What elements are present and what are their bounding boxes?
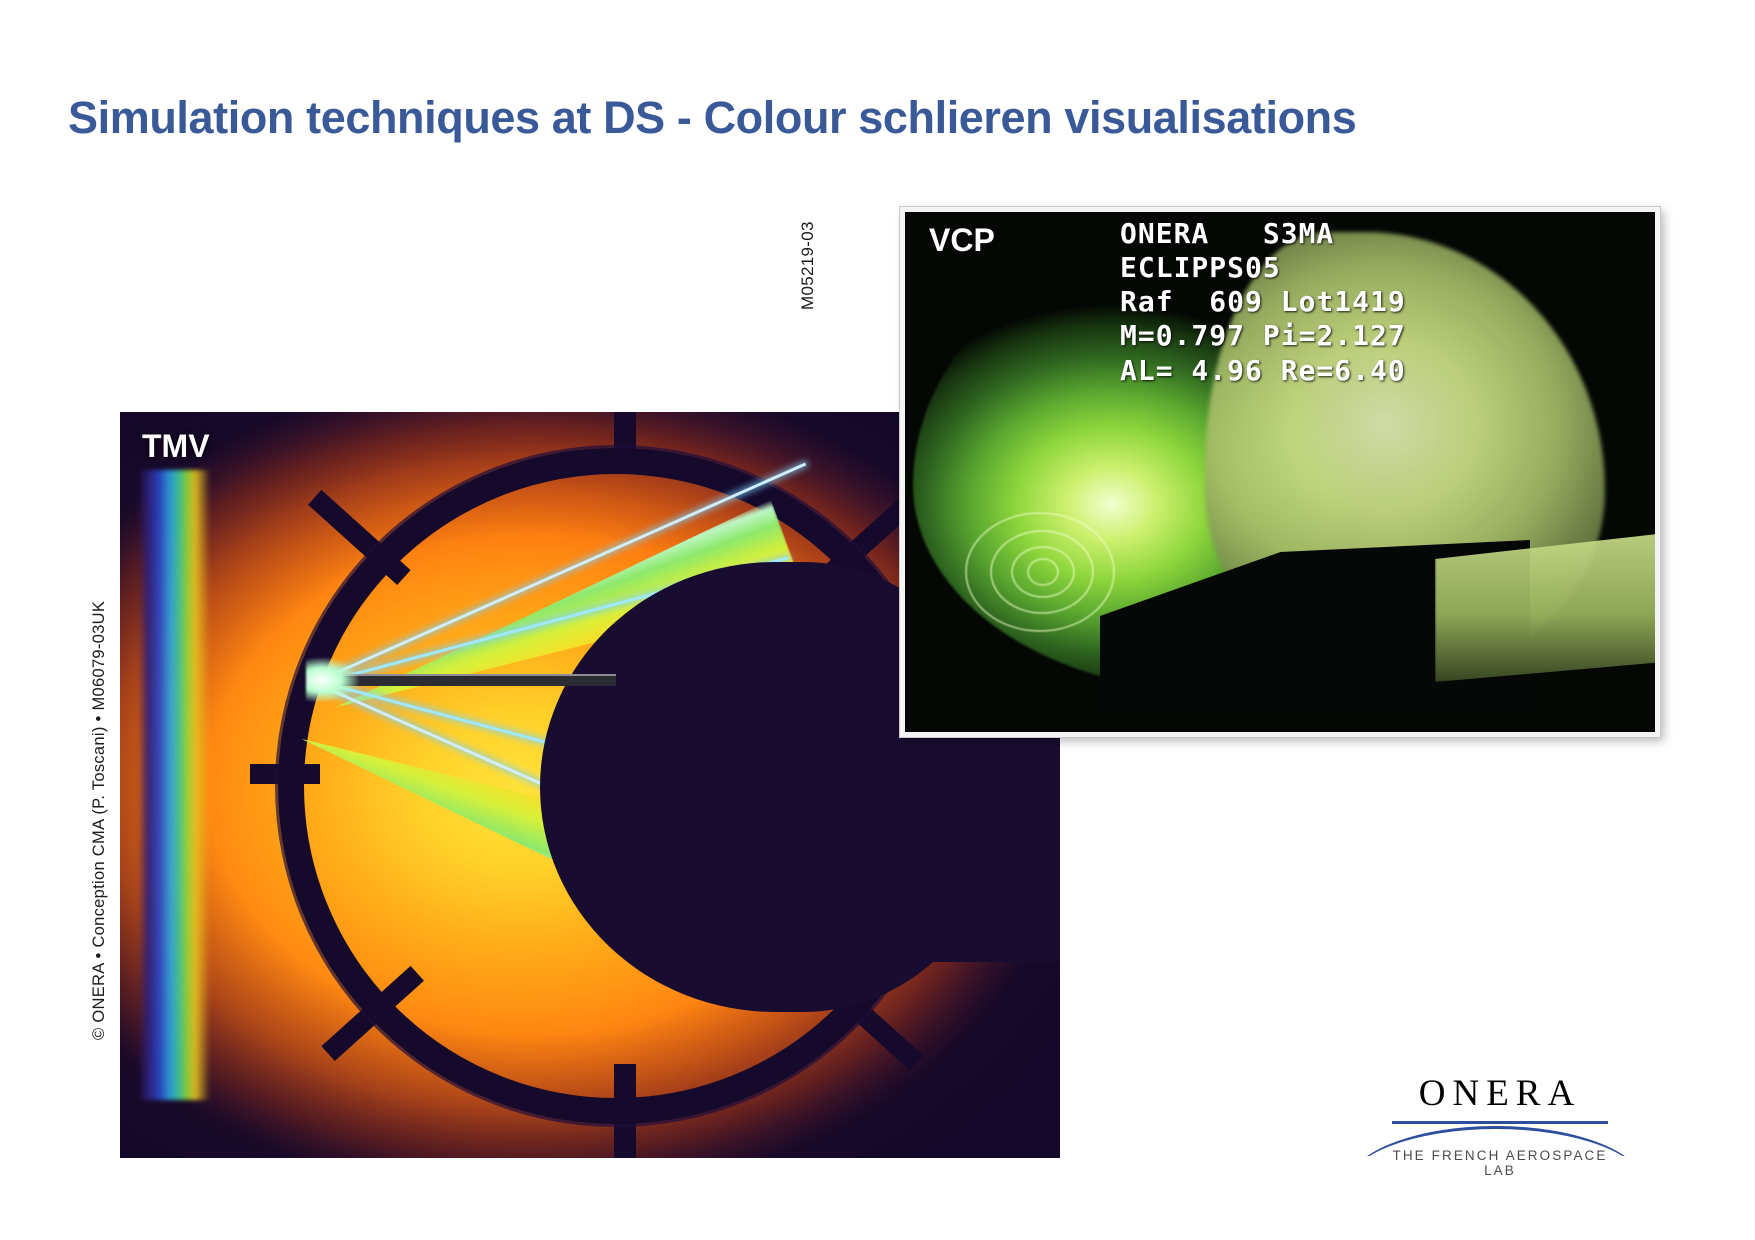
vcp-figure: VCP ONERA S3MA ECLIPPS05 Raf 609 Lot1419… — [900, 207, 1660, 737]
tmv-figure-label: TMV — [142, 428, 210, 465]
tmv-rainbow-edge — [138, 470, 210, 1100]
page-title: Simulation techniques at DS - Colour sch… — [68, 92, 1356, 144]
vcp-vortex-ring — [1027, 558, 1059, 586]
slide-canvas: Simulation techniques at DS - Colour sch… — [0, 0, 1755, 1240]
tmv-model-sting — [316, 674, 616, 686]
tmv-nose-bow-shock — [306, 658, 358, 702]
onera-tagline: THE FRENCH AEROSPACE LAB — [1380, 1148, 1620, 1178]
vcp-reference-caption: M05219-03 — [798, 221, 818, 310]
onera-wordmark: ONERA — [1388, 1072, 1612, 1115]
copyright-caption: © ONERA • Conception CMA (P. Toscani) • … — [90, 601, 109, 1040]
vcp-data-overlay: ONERA S3MA ECLIPPS05 Raf 609 Lot1419 M=0… — [1120, 217, 1406, 388]
vcp-figure-label: VCP — [929, 222, 995, 259]
onera-logo: ONERA THE FRENCH AEROSPACE LAB — [1380, 1072, 1620, 1168]
